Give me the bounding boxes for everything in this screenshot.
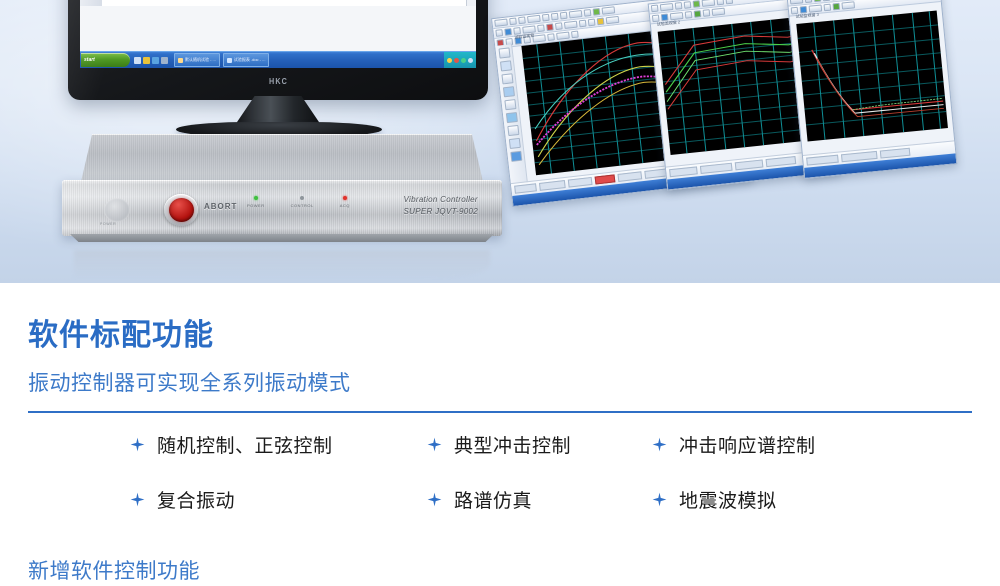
feature-list: 随机控制、正弦控制 典型冲击控制 冲击响应谱控制 复合振动 — [130, 431, 970, 513]
start-label: start — [84, 57, 95, 63]
device-base — [70, 234, 494, 242]
feature-item: 复合振动 — [130, 486, 427, 513]
led-acq-label: ACQ — [340, 203, 350, 208]
next-section-heading: 新增软件控制功能 — [28, 561, 200, 582]
start-button[interactable]: start — [81, 53, 130, 67]
led-control: CONTROL — [291, 196, 314, 208]
quick-launch-bar[interactable] — [134, 57, 168, 64]
taskbar-task[interactable]: 默认随机试验 - ... — [174, 53, 220, 67]
led-power-lamp — [254, 196, 258, 200]
feature-item: 地震波模拟 — [652, 486, 970, 513]
window-3-chart — [796, 10, 948, 141]
feature-item: 路谱仿真 — [427, 486, 652, 513]
taskbar-window-buttons[interactable]: 默认随机试验 - ... 试验报表 .doc - ... — [174, 53, 269, 67]
led-acq-lamp — [343, 196, 347, 200]
sparkle-bullet-icon — [652, 437, 667, 452]
monitor-bezel: 0.0010 1.0e-04 — [68, 0, 488, 100]
feature-label: 随机控制、正弦控制 — [157, 431, 333, 458]
device-brand-line-2: SUPER JQVT-9002 — [404, 206, 478, 218]
abort-label: ABORT — [204, 202, 237, 211]
monitor-chin: HKC — [80, 70, 476, 92]
abort-button-cap — [169, 198, 194, 222]
taskbar-task[interactable]: 试验报表 .doc - ... — [223, 53, 270, 67]
sparkle-bullet-icon — [427, 437, 442, 452]
feature-label: 路谱仿真 — [454, 486, 532, 513]
taskbar-task-label: 默认随机试验 - ... — [185, 57, 216, 63]
feature-item: 冲击响应谱控制 — [652, 431, 970, 458]
vibration-controller-device: POWER ABORT POWER CONTROL ACQ — [62, 134, 502, 254]
feature-label: 典型冲击控制 — [454, 431, 571, 458]
device-top-panel — [80, 134, 484, 186]
feature-item: 随机控制、正弦控制 — [130, 431, 427, 458]
feature-label: 复合振动 — [157, 486, 235, 513]
device-reflection — [74, 250, 490, 280]
taskbar-task-label: 试验报表 .doc - ... — [234, 57, 266, 63]
section-heading: 软件标配功能 — [28, 321, 214, 351]
feature-item: 典型冲击控制 — [427, 431, 652, 458]
window-3-title: 试验监视窗 3 — [795, 12, 819, 20]
feature-label: 冲击响应谱控制 — [679, 431, 816, 458]
abort-button[interactable] — [164, 194, 198, 226]
power-knob[interactable] — [104, 198, 130, 222]
sparkle-bullet-icon — [130, 492, 145, 507]
sparkle-bullet-icon — [130, 437, 145, 452]
product-feature-page: 0.0010 1.0e-04 — [0, 0, 1000, 586]
vertical-scrollbar[interactable] — [466, 0, 476, 6]
power-knob-label: POWER — [100, 222, 116, 226]
features-section: 软件标配功能 振动控制器可实现全系列振动模式 随机控制、正弦控制 典型冲击控制 — [0, 283, 1000, 586]
software-window-3[interactable]: 试验监视窗 3 — [787, 0, 958, 179]
section-divider — [28, 411, 972, 413]
window-2-title: 试验监视窗 2 — [657, 19, 681, 27]
monitor-screen: 0.0010 1.0e-04 — [80, 0, 476, 68]
sparkle-bullet-icon — [652, 492, 667, 507]
software-screenshot-group: 试验监视窗 — [495, 0, 1000, 218]
system-tray[interactable] — [444, 52, 476, 68]
monitor-brand-label: HKC — [269, 77, 288, 86]
led-power-label: POWER — [247, 203, 265, 208]
feature-label: 地震波模拟 — [679, 486, 777, 513]
status-led-group: POWER CONTROL ACQ — [247, 196, 350, 208]
device-brand-line-1: Vibration Controller — [404, 194, 478, 206]
hero-banner: 0.0010 1.0e-04 — [0, 0, 1000, 283]
led-control-lamp — [300, 196, 304, 200]
window-3-traces — [796, 10, 948, 141]
windows-taskbar[interactable]: start 默认随机试验 - ... — [80, 51, 476, 68]
sparkle-bullet-icon — [427, 492, 442, 507]
app-plot-area: 0.0010 1.0e-04 — [80, 0, 476, 6]
app-left-gutter — [80, 0, 102, 6]
led-acq: ACQ — [340, 196, 350, 208]
device-brand-plate: Vibration Controller SUPER JQVT-9002 — [404, 194, 478, 217]
led-control-label: CONTROL — [291, 203, 314, 208]
section-subheading: 振动控制器可实现全系列振动模式 — [28, 373, 351, 394]
led-power: POWER — [247, 196, 265, 208]
monitor-illustration: 0.0010 1.0e-04 — [68, 0, 488, 120]
